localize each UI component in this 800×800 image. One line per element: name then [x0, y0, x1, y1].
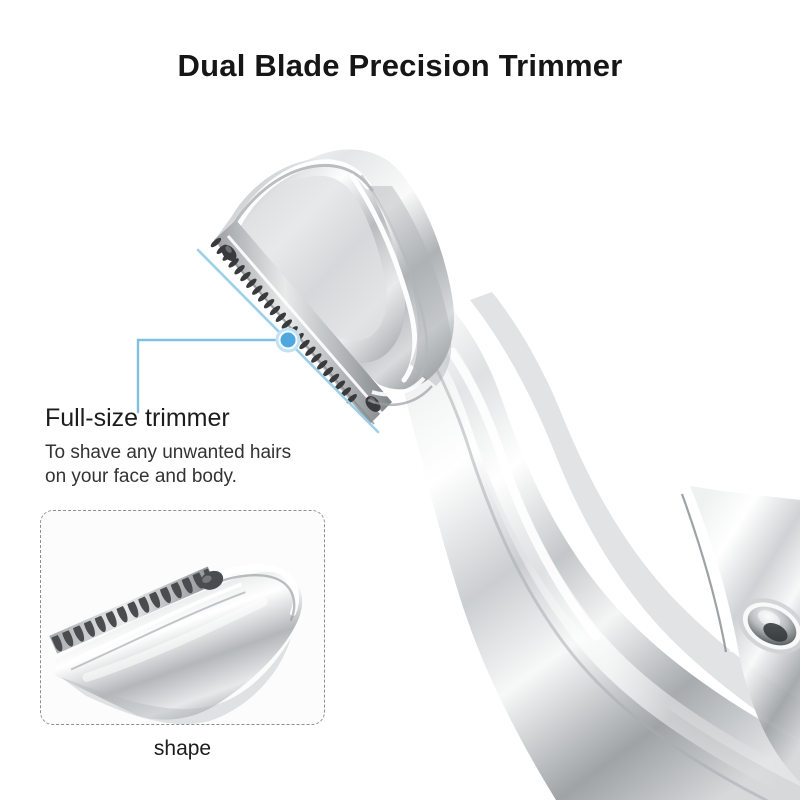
- inset-caption: shape: [40, 737, 325, 761]
- callout-text-block: Full-size trimmer To shave any unwanted …: [45, 404, 375, 489]
- inset-photo-box: [40, 510, 325, 725]
- callout-marker-dot: [281, 333, 296, 348]
- callout-heading: Full-size trimmer: [45, 404, 375, 433]
- product-feature-graphic: Dual Blade Precision Trimmer: [0, 0, 800, 800]
- callout-description-line-1: To shave any unwanted hairs: [45, 442, 291, 463]
- callout-description-line-2: on your face and body.: [45, 466, 237, 487]
- inset-closeup-illustration: [41, 511, 324, 724]
- callout-description: To shave any unwanted hairs on your face…: [45, 441, 375, 490]
